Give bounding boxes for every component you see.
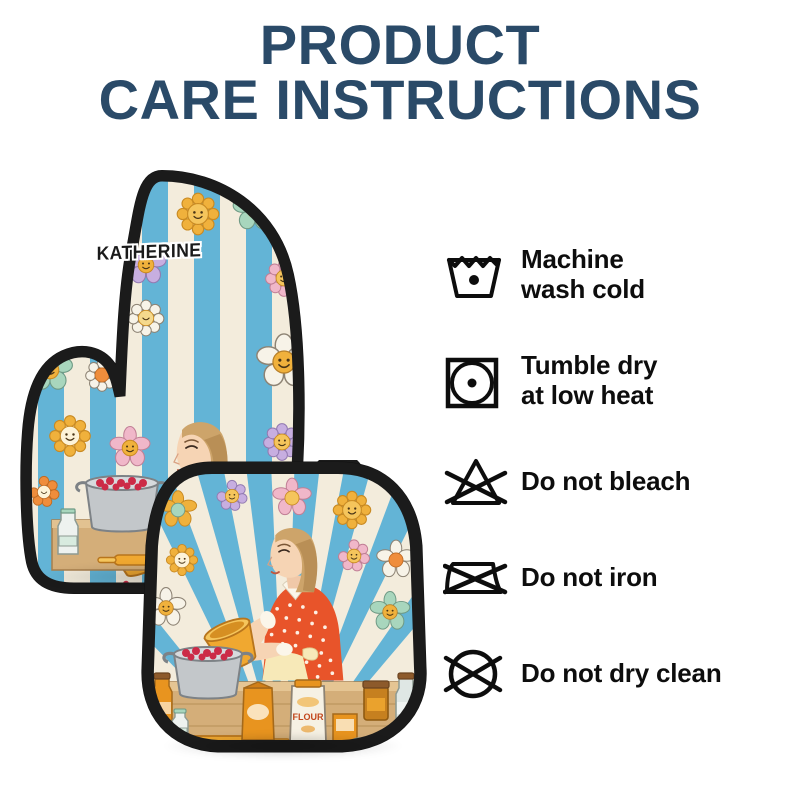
pot-holder-artwork: FLOUR (140, 460, 430, 760)
flower-icon (166, 544, 197, 575)
product-image: KATHERINE (0, 160, 430, 780)
flower-icon (50, 416, 91, 457)
care-label: Tumble dry at low heat (521, 351, 657, 410)
tumble-dry-low-heat-icon (443, 345, 521, 417)
care-instruction-list: Machine wash cold Tumble dry at low heat… (443, 222, 793, 722)
page-title: PRODUCT CARE INSTRUCTIONS (0, 18, 800, 128)
title-line-1: PRODUCT (0, 18, 800, 73)
care-row-do-not-bleach: Do not bleach (443, 434, 793, 530)
care-label: Do not dry clean (521, 659, 722, 689)
care-row-do-not-dry-clean: Do not dry clean (443, 626, 793, 722)
care-label: Do not bleach (521, 467, 690, 497)
do-not-dry-clean-icon (443, 638, 521, 710)
care-row-do-not-iron: Do not iron (443, 530, 793, 626)
care-row-machine-wash: Machine wash cold (443, 222, 793, 328)
do-not-iron-icon (443, 542, 521, 614)
flower-icon (333, 491, 370, 528)
wash-tub-one-dot-icon (443, 239, 521, 311)
flower-icon (128, 300, 164, 336)
flour-label: FLOUR (293, 712, 324, 722)
do-not-bleach-icon (443, 446, 521, 518)
flower-icon (177, 193, 219, 235)
title-line-2: CARE INSTRUCTIONS (0, 73, 800, 128)
pot-holder-shadow (158, 732, 408, 760)
care-label: Do not iron (521, 563, 657, 593)
care-label: Machine wash cold (521, 245, 645, 304)
care-row-tumble-dry: Tumble dry at low heat (443, 328, 793, 434)
pot-holder: FLOUR (140, 460, 430, 760)
